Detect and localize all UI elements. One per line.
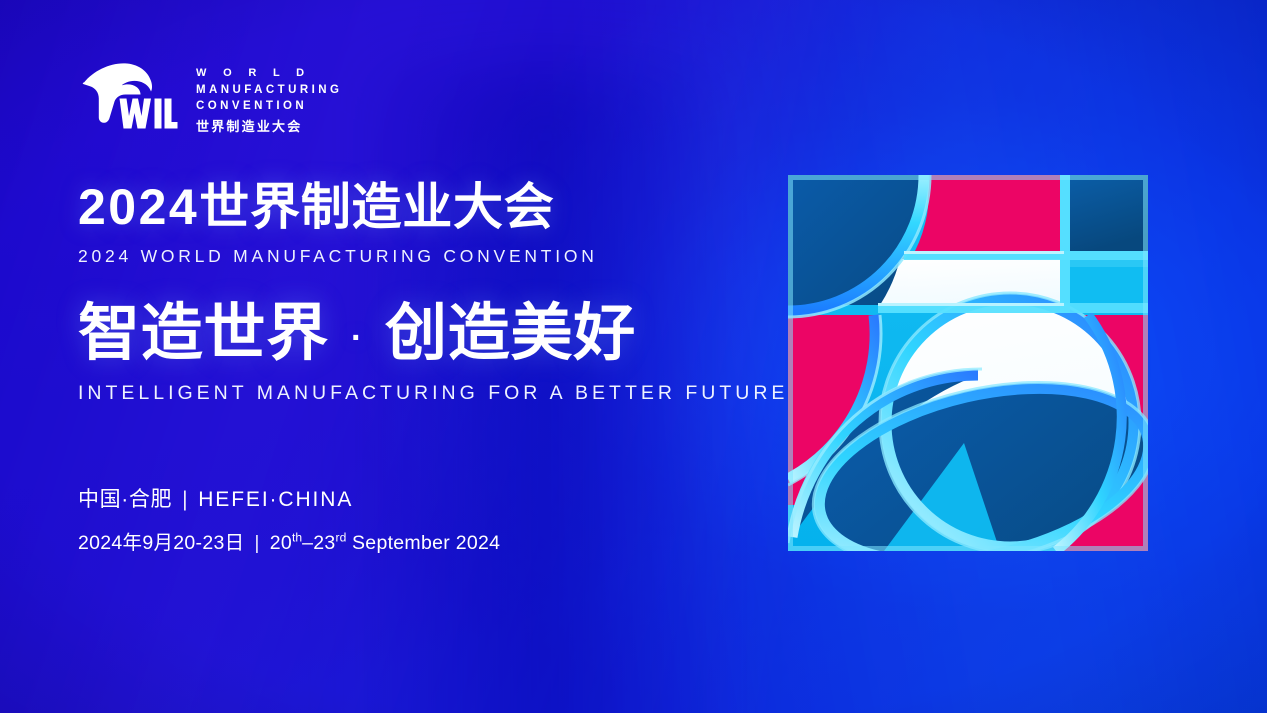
- venue-line: 中国·合肥|HEFEI·CHINA: [78, 483, 778, 513]
- slogan-chinese-part2: 创造美好: [385, 301, 636, 366]
- venue-chinese: 中国·合肥: [78, 488, 172, 511]
- date-english-end-day: 23: [313, 532, 335, 554]
- main-title-english: 2024 WORLD MANUFACTURING CONVENTION: [78, 246, 778, 267]
- slogan-separator-icon: ·: [329, 321, 385, 357]
- slogan-block: 智造世界 · 创造美好 INTELLIGENT MANUFACTURING FO…: [78, 301, 778, 405]
- banner-root: W O R L D MANUFACTURING CONVENTION 世界制造业…: [0, 0, 1267, 713]
- main-title-year: 2024: [78, 179, 199, 235]
- main-title-chinese-name: 世界制造业大会: [199, 179, 554, 235]
- logo-line-world: W O R L D: [196, 66, 342, 82]
- date-chinese: 2024年9月20-23日: [78, 532, 244, 554]
- logo-line-convention: CONVENTION: [196, 98, 342, 114]
- wmc-eagle-mark-icon: [78, 54, 178, 136]
- date-english-dash: –: [302, 532, 313, 554]
- date-english-end-suffix: rd: [336, 530, 347, 544]
- logo-line-chinese: 世界制造业大会: [196, 116, 342, 135]
- title-block: 2024世界制造业大会 2024 WORLD MANUFACTURING CON…: [78, 182, 778, 267]
- date-english-start-suffix: th: [292, 530, 302, 544]
- logo-line-manufacturing: MANUFACTURING: [196, 82, 342, 98]
- logo-lockup: W O R L D MANUFACTURING CONVENTION 世界制造业…: [78, 54, 778, 136]
- date-english-start-day: 20: [270, 532, 292, 554]
- left-content-column: W O R L D MANUFACTURING CONVENTION 世界制造业…: [78, 54, 778, 555]
- date-divider: |: [244, 532, 269, 554]
- venue-english: HEFEI·CHINA: [198, 488, 353, 511]
- wmc-abstract-emblem-icon: [788, 175, 1148, 551]
- slogan-english: INTELLIGENT MANUFACTURING FOR A BETTER F…: [78, 382, 778, 405]
- date-line: 2024年9月20-23日|20th–23rd September 2024: [78, 526, 778, 555]
- logo-text-group: W O R L D MANUFACTURING CONVENTION 世界制造业…: [196, 54, 342, 135]
- info-block: 中国·合肥|HEFEI·CHINA 2024年9月20-23日|20th–23r…: [78, 483, 778, 555]
- emblem-wrapper: [788, 175, 1148, 551]
- date-english-month-year: September 2024: [346, 532, 500, 554]
- venue-divider: |: [172, 488, 198, 511]
- main-title-chinese: 2024世界制造业大会: [78, 182, 778, 234]
- slogan-chinese-part1: 智造世界: [78, 301, 329, 366]
- slogan-chinese: 智造世界 · 创造美好: [78, 301, 778, 366]
